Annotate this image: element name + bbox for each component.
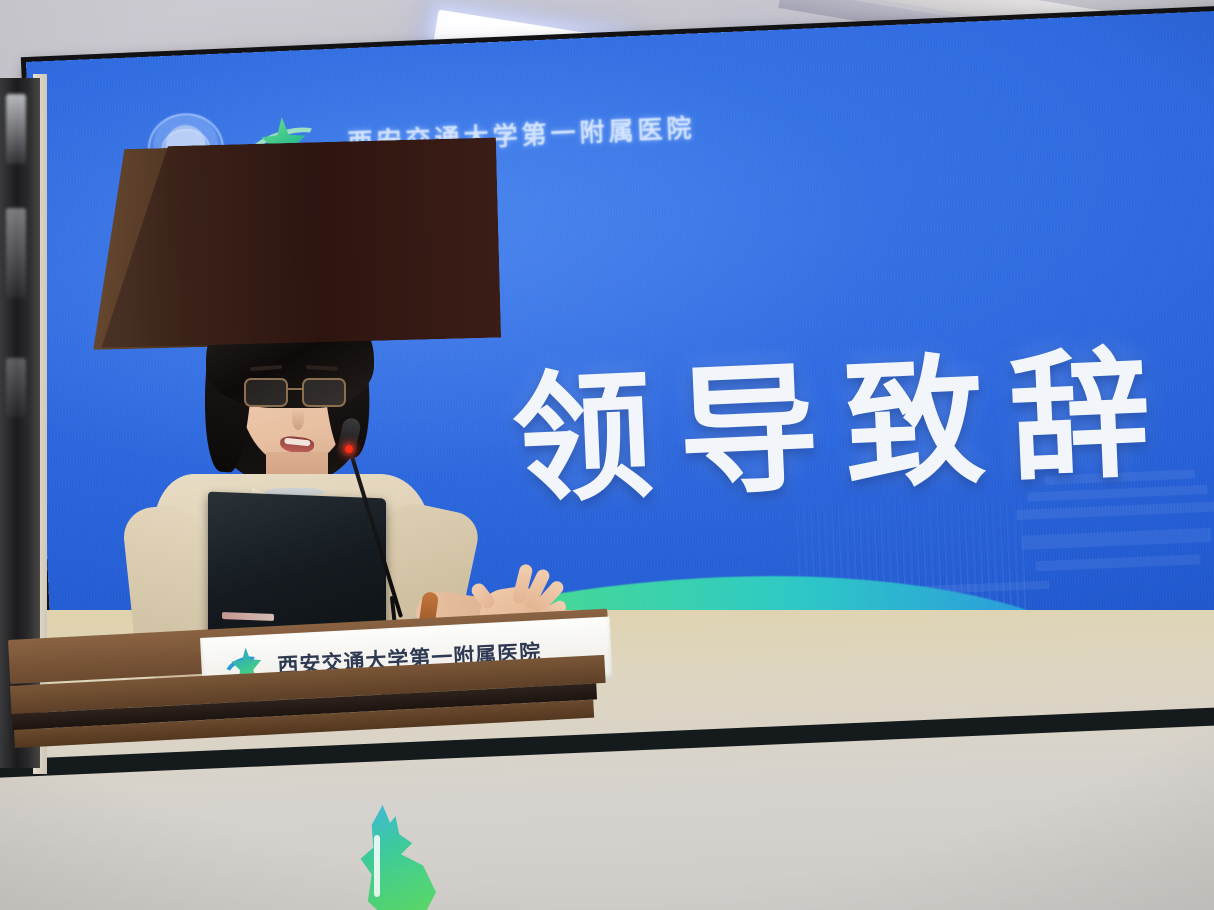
eyeglasses-icon xyxy=(244,378,354,408)
screen-main-title: 领导致辞 xyxy=(510,343,1179,511)
mic-capsule-icon xyxy=(336,417,362,460)
gooseneck-microphone[interactable] xyxy=(330,418,480,618)
nose xyxy=(292,408,304,430)
hospital-pagoda-caduceus-emblem-icon xyxy=(330,805,450,910)
photo-scene: 西安交通大学第一附属医院 领导致辞 xyxy=(0,0,1214,910)
mic-gooseneck xyxy=(348,449,403,618)
podium: 西安交通大学第一附属医院 THE FIRST AFFILIATED HOSPIT… xyxy=(0,600,640,910)
mic-indicator-light xyxy=(345,445,353,453)
